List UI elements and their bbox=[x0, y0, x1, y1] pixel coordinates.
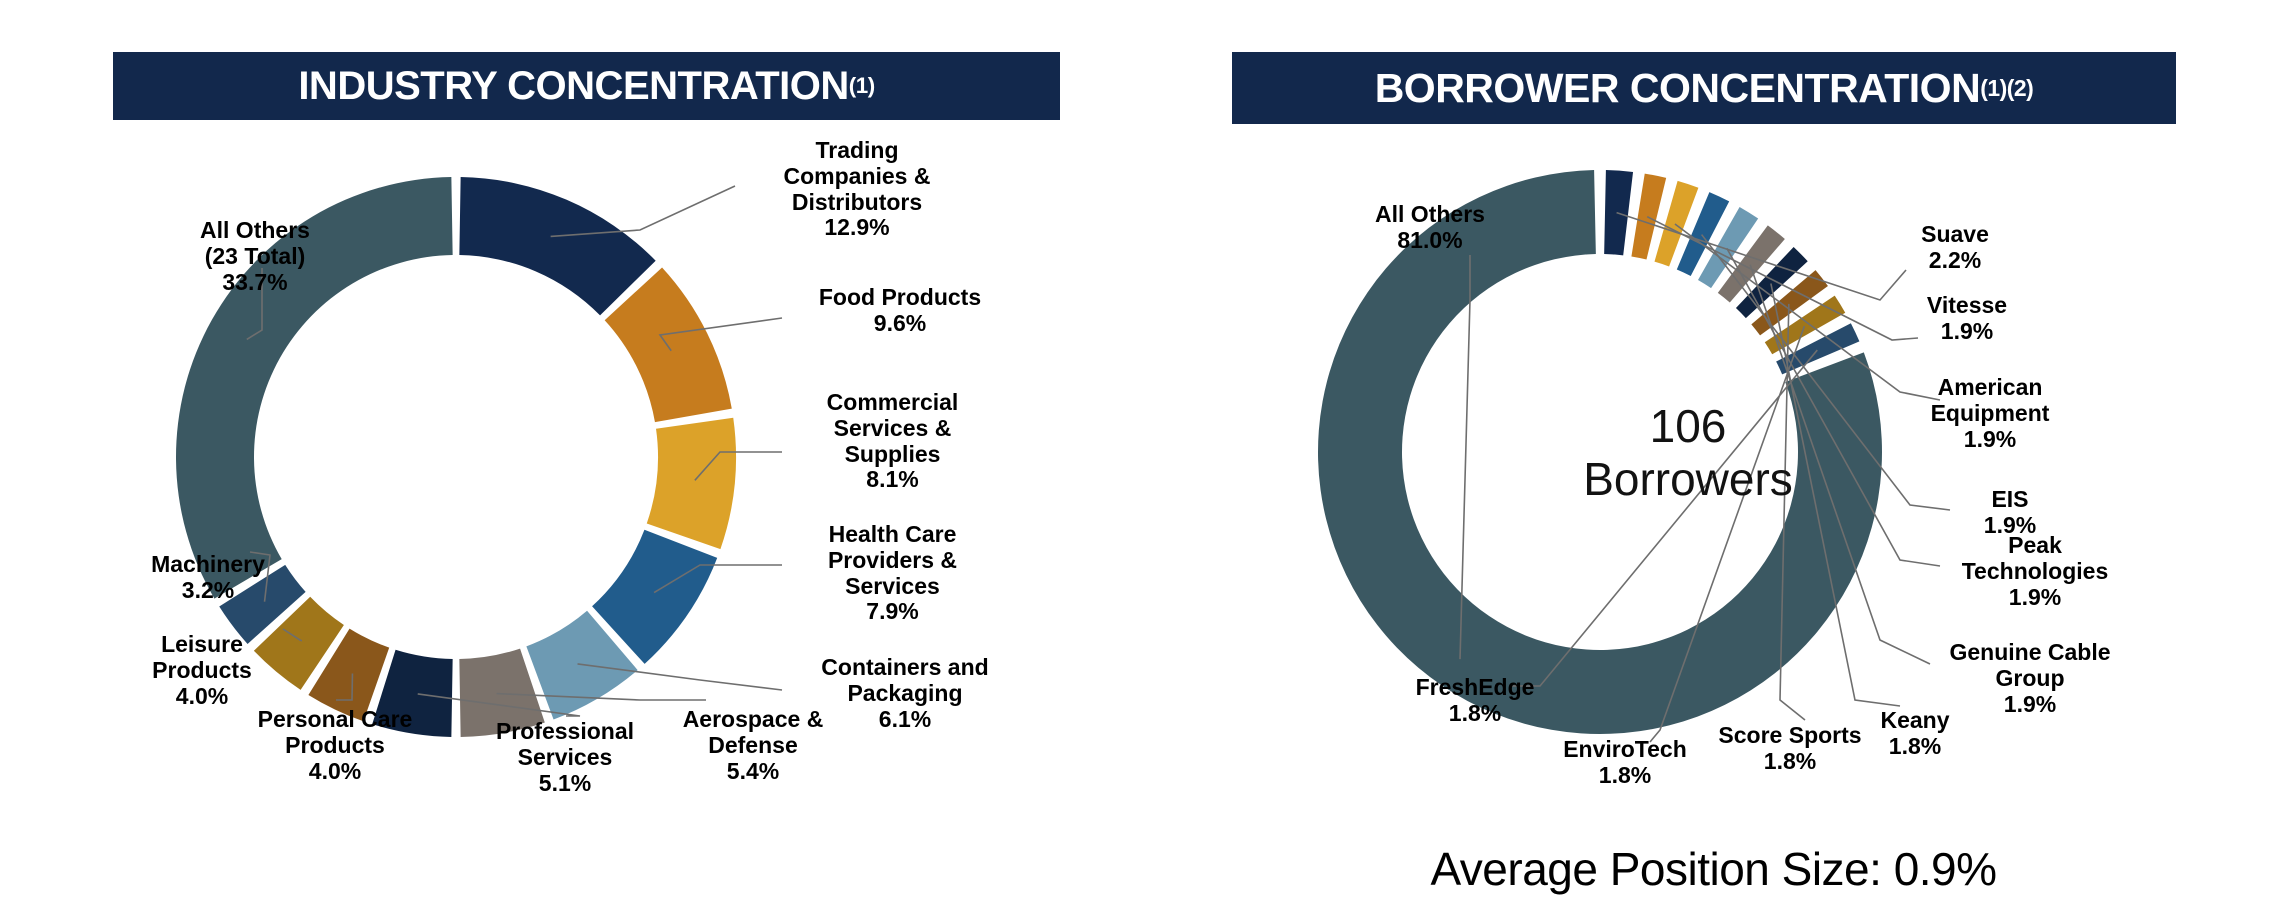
label-commercial-services: Commercial Services & Supplies 8.1% bbox=[790, 390, 995, 493]
label-american-equipment: American Equipment 1.9% bbox=[1895, 375, 2085, 452]
donut-slice bbox=[647, 418, 736, 549]
label-professional-services: Professional Services 5.1% bbox=[470, 719, 660, 796]
label-genuine-cable-group: Genuine Cable Group 1.9% bbox=[1920, 640, 2140, 717]
label-envirotech: EnviroTech 1.8% bbox=[1530, 737, 1720, 789]
borrower-concentration-panel: BORROWER CONCENTRATION(1)(2) 106 Borrowe… bbox=[1140, 0, 2287, 915]
label-vitesse: Vitesse 1.9% bbox=[1892, 293, 2042, 345]
label-eis: EIS 1.9% bbox=[1940, 487, 2080, 539]
label-all-others-borrower: All Others 81.0% bbox=[1335, 202, 1525, 254]
industry-concentration-panel: INDUSTRY CONCENTRATION(1) Trading Compan… bbox=[0, 0, 1140, 915]
label-all-others-industry: All Others (23 Total) 33.7% bbox=[160, 218, 350, 295]
label-leisure-products: Leisure Products 4.0% bbox=[122, 632, 282, 709]
borrower-center-count: 106 Borrowers bbox=[1548, 400, 1828, 507]
average-position-size: Average Position Size: 0.9% bbox=[1140, 842, 2287, 896]
label-suave: Suave 2.2% bbox=[1880, 222, 2030, 274]
label-freshedge: FreshEdge 1.8% bbox=[1380, 675, 1570, 727]
label-trading-companies: Trading Companies & Distributors 12.9% bbox=[742, 138, 972, 241]
label-health-care: Health Care Providers & Services 7.9% bbox=[790, 522, 995, 625]
label-score-sports: Score Sports 1.8% bbox=[1695, 723, 1885, 775]
label-food-products: Food Products 9.6% bbox=[790, 285, 1010, 337]
label-aerospace-defense: Aerospace & Defense 5.4% bbox=[668, 707, 838, 784]
label-peak-technologies: Peak Technologies 1.9% bbox=[1930, 533, 2140, 610]
label-machinery: Machinery 3.2% bbox=[128, 552, 288, 604]
label-personal-care: Personal Care Products 4.0% bbox=[235, 707, 435, 784]
donut-slice bbox=[459, 177, 655, 315]
